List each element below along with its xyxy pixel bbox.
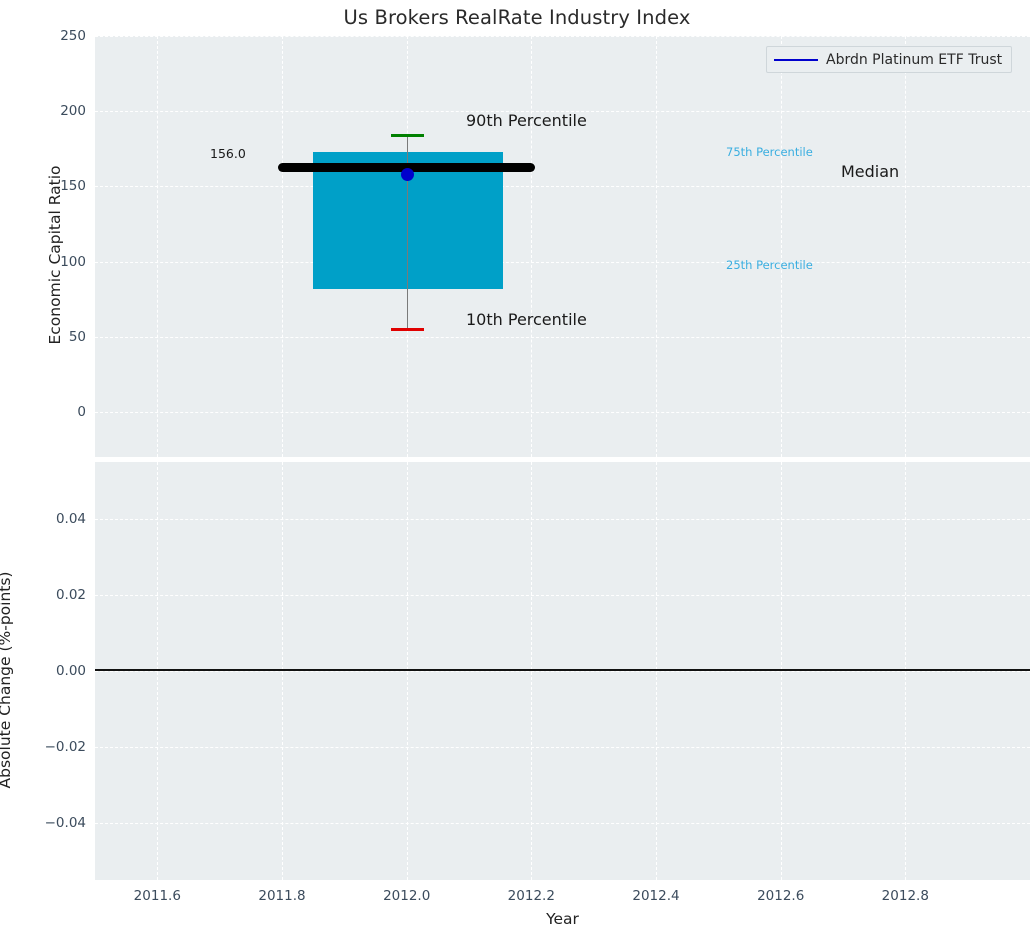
chart-figure: Us Brokers RealRate Industry Index 90th … [0,0,1034,942]
zero-change-line [95,669,1030,671]
ytick-top-0: 250 [8,28,86,44]
gridline-y-0-02 [95,595,1030,596]
xtick-1: 2011.8 [258,888,305,904]
gridline-y-0-04 [95,519,1030,520]
ytick-bottom-4: −0.04 [8,815,86,831]
gridline-x-2012-8-b [905,462,906,880]
xtick-6: 2012.8 [882,888,929,904]
gridline-y-neg-0-04 [95,823,1030,824]
xtick-4: 2012.4 [632,888,679,904]
ytick-bottom-2: 0.00 [8,663,86,679]
gridline-y-0 [95,412,1030,413]
gridline-x-2012-2-b [531,462,532,880]
gridline-x-2011-8-b [282,462,283,880]
gridline-x-2012-2 [531,36,532,457]
gridline-x-2012-4-b [656,462,657,880]
y-axis-ticks-top: 250 200 150 100 50 0 [0,36,86,457]
ytick-bottom-3: −0.02 [8,739,86,755]
annotation-median: Median [841,162,899,181]
gridline-y-50 [95,337,1030,338]
top-plot-area: 90th Percentile 10th Percentile Median 7… [95,36,1030,457]
gridline-y-neg-0-02 [95,747,1030,748]
gridline-x-2012-8 [905,36,906,457]
x-axis-title: Year [95,910,1030,928]
gridline-y-250 [95,36,1030,37]
annotation-75th-percentile: 75th Percentile [726,145,813,159]
percentile-10-cap [391,328,424,331]
company-marker [401,168,414,181]
ytick-bottom-1: 0.02 [8,587,86,603]
ytick-bottom-0: 0.04 [8,511,86,527]
annotation-10th-percentile: 10th Percentile [466,310,587,329]
median-value-label: 156.0 [210,146,246,161]
gridline-x-2011-8 [282,36,283,457]
gridline-y-0-00 [95,671,1030,672]
xtick-5: 2012.6 [757,888,804,904]
annotation-90th-percentile: 90th Percentile [466,111,587,130]
gridline-x-2011-6 [157,36,158,457]
page-title: Us Brokers RealRate Industry Index [0,6,1034,29]
y-axis-title-bottom: Absolute Change (%-points) [0,470,14,890]
gridline-x-2012-6 [781,36,782,457]
xtick-3: 2012.2 [508,888,555,904]
percentile-90-cap [391,134,424,137]
y-axis-title-top: Economic Capital Ratio [46,45,64,465]
gridline-x-2012-0-b [407,462,408,880]
xtick-2: 2012.0 [383,888,430,904]
legend-line-icon [774,59,818,61]
gridline-x-2012-4 [656,36,657,457]
gridline-y-100 [95,262,1030,263]
bottom-plot-area [95,462,1030,880]
xtick-0: 2011.6 [134,888,181,904]
annotation-25th-percentile: 25th Percentile [726,258,813,272]
legend-item-label: Abrdn Platinum ETF Trust [826,52,1002,68]
legend[interactable]: Abrdn Platinum ETF Trust [766,46,1012,73]
gridline-x-2012-6-b [781,462,782,880]
gridline-y-150 [95,186,1030,187]
gridline-x-2011-6-b [157,462,158,880]
